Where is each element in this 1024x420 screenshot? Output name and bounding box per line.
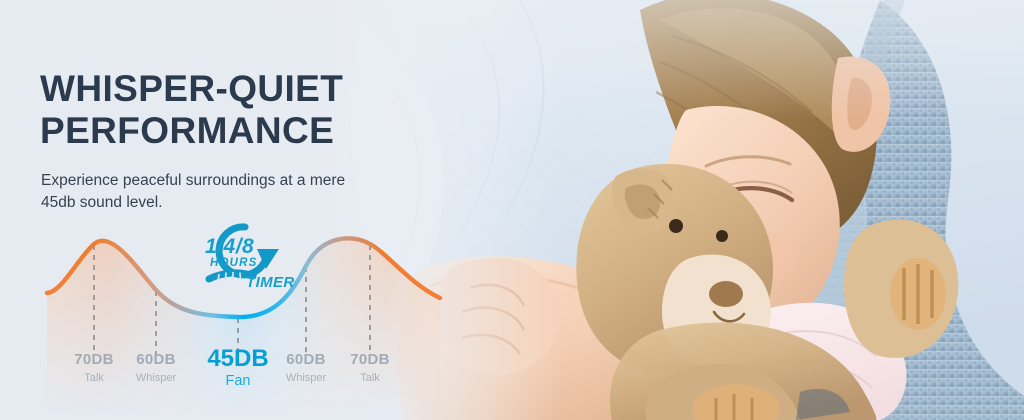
promo-banner: WHISPER-QUIET PERFORMANCE Experience pea… <box>0 0 1024 420</box>
page-title: WHISPER-QUIET PERFORMANCE <box>40 68 470 152</box>
timer-badge: 1/4/8 HOURS TIMER <box>183 219 301 295</box>
db-label-talk-right: 70DB Talk <box>350 352 390 384</box>
db-name: Whisper <box>136 372 176 384</box>
db-name: Fan <box>207 374 268 390</box>
db-name: Talk <box>74 372 114 384</box>
db-value: 70DB <box>350 352 390 369</box>
db-name: Talk <box>350 372 390 384</box>
subtitle-text: Experience peaceful surroundings at a me… <box>41 170 431 214</box>
db-value: 60DB <box>136 352 176 369</box>
db-label-whisper-left: 60DB Whisper <box>136 352 176 384</box>
db-label-talk-left: 70DB Talk <box>74 352 114 384</box>
db-name: Whisper <box>286 372 326 384</box>
db-value: 70DB <box>74 352 114 369</box>
svg-text:1/4/8: 1/4/8 <box>205 235 254 258</box>
db-label-row: 70DB Talk 60DB Whisper 45DB Fan 60DB Whi… <box>0 352 470 412</box>
db-label-whisper-right: 60DB Whisper <box>286 352 326 384</box>
db-value: 45DB <box>207 346 268 372</box>
db-value: 60DB <box>286 352 326 369</box>
svg-text:HOURS: HOURS <box>210 257 258 269</box>
db-label-fan: 45DB Fan <box>207 346 268 390</box>
svg-text:TIMER: TIMER <box>246 274 295 291</box>
